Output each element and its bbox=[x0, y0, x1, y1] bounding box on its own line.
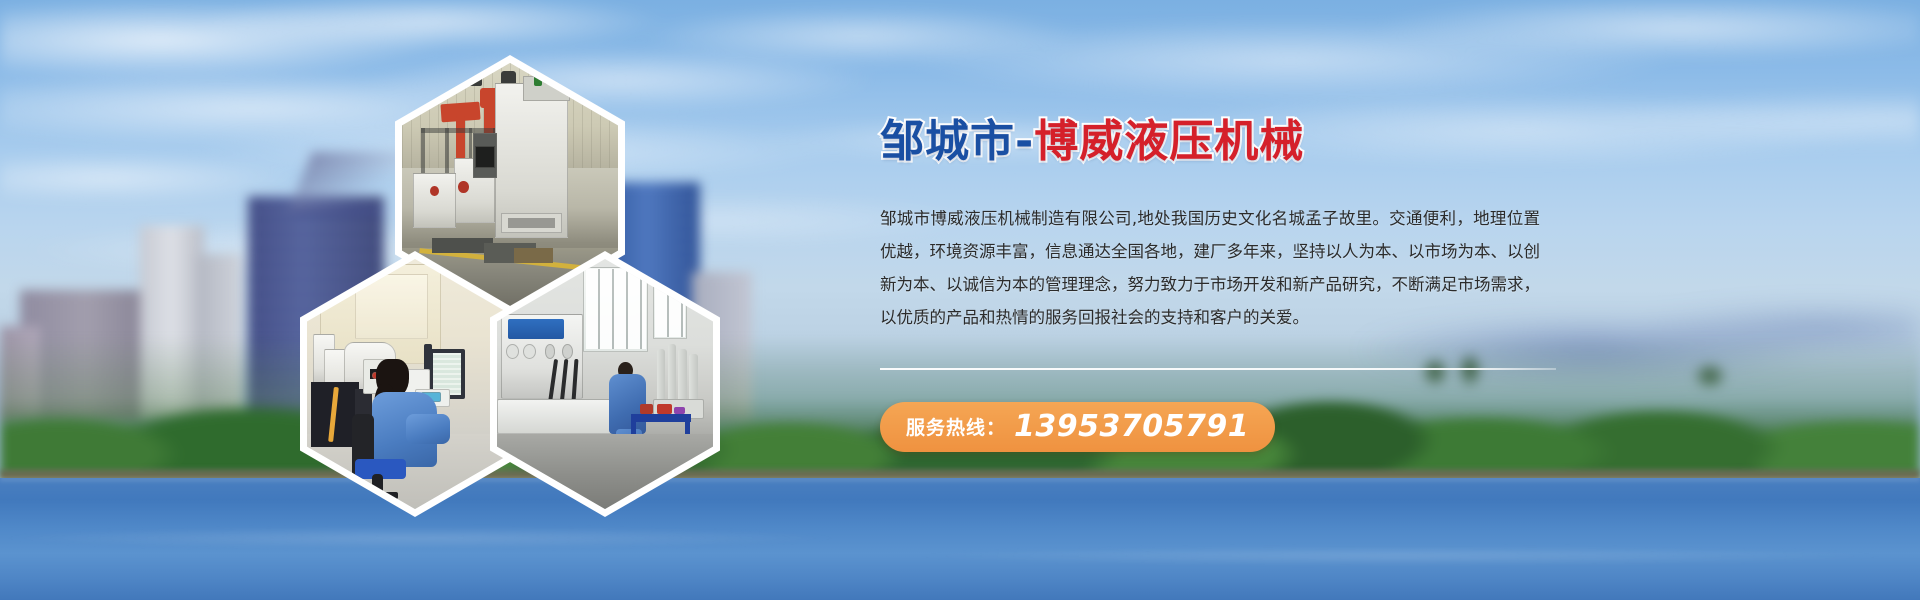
page-title-blue: 邹城市- bbox=[880, 116, 1034, 167]
page-title-red: 博威液压机械 bbox=[1034, 116, 1304, 167]
hotline-button[interactable]: 服务热线： 13953705791 bbox=[880, 402, 1275, 452]
hotline-number: 13953705791 bbox=[1014, 409, 1249, 444]
page-title: 邹城市-博威液压机械 bbox=[880, 118, 1540, 166]
hero-banner: 邹城市-博威液压机械 邹城市博威液压机械制造有限公司,地处我国历史文化名城孟子故… bbox=[0, 0, 1920, 600]
hotline-label: 服务热线： bbox=[906, 413, 1006, 440]
background-water bbox=[0, 478, 1920, 600]
hexagon-photo-cluster bbox=[300, 55, 720, 505]
banner-content: 邹城市-博威液压机械 邹城市博威液压机械制造有限公司,地处我国历史文化名城孟子故… bbox=[880, 118, 1540, 452]
company-description: 邹城市博威液压机械制造有限公司,地处我国历史文化名城孟子故里。交通便利，地理位置… bbox=[880, 202, 1540, 334]
hexagon-photo-test-bench-image bbox=[497, 259, 713, 509]
section-divider bbox=[880, 368, 1556, 370]
